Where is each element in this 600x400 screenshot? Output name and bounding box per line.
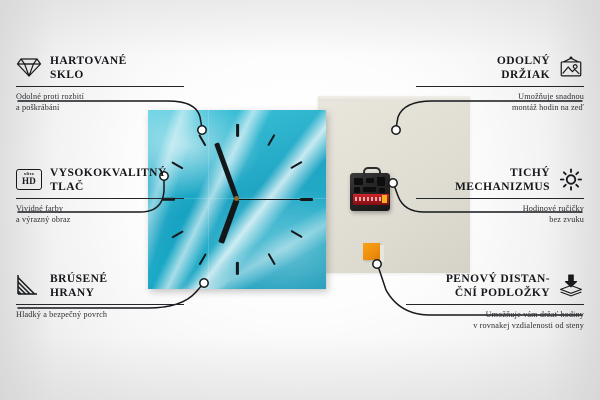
feature-divider <box>416 198 584 199</box>
feature-description-line: Umožňuje snadnou <box>416 91 584 102</box>
mechanism-detail <box>354 178 363 185</box>
clock-hour-marker <box>291 161 303 170</box>
feature-description-line: bez zvuku <box>416 214 584 225</box>
feature-title: VYSOKOKVALITNÝ TLAČ <box>50 166 167 194</box>
clock-center-cap <box>234 196 239 201</box>
feature-title-line: DRŽIAK <box>497 69 550 83</box>
feature-header: BRÚSENÉ HRANY <box>16 272 184 300</box>
mechanism-detail <box>363 187 376 192</box>
clock-seam-vertical <box>208 110 209 289</box>
feature-description: Odolné proti rozbití a poškrábání <box>16 91 184 113</box>
feature-title-line: HARTOVANÉ <box>50 55 127 69</box>
feature-description: Hladký a bezpečný povrch <box>16 309 184 320</box>
clock-hour-marker <box>291 230 303 239</box>
feature-high-quality-print: ultra HD VYSOKOKVALITNÝ TLAČ Vividné far… <box>16 166 184 225</box>
feature-description-line: Umožňuje vám držať hodiny <box>406 309 584 320</box>
orange-foam-spacer-pad <box>363 243 380 260</box>
feature-divider <box>416 86 584 87</box>
ultra-hd-large-text: HD <box>22 177 36 186</box>
clock-hour-marker <box>267 133 276 145</box>
feature-title-line: SKLO <box>50 69 127 83</box>
feature-header: ultra HD VYSOKOKVALITNÝ TLAČ <box>16 166 184 194</box>
feature-header: HARTOVANÉ SKLO <box>16 54 184 82</box>
feature-description-line: v rovnakej vzdialenosti od steny <box>406 320 584 331</box>
feature-silent-mechanism: TICHÝ MECHANIZMUS Hodinové ručičky bez z… <box>416 166 584 225</box>
feature-description-line: Hladký a bezpečný povrch <box>16 309 184 320</box>
feature-title-line: ČNÍ PODLOŽKY <box>446 287 550 301</box>
feature-description-line: a výrazný obraz <box>16 214 184 225</box>
feature-title: ODOLNÝ DRŽIAK <box>497 54 550 82</box>
feature-title-line: BRÚSENÉ <box>50 273 107 287</box>
mechanism-detail <box>379 188 385 193</box>
feature-description-line: Odolné proti rozbití <box>16 91 184 102</box>
feature-title-line: HRANY <box>50 287 107 301</box>
clock-hour-hand <box>219 199 240 244</box>
clock-hour-marker <box>236 124 239 137</box>
feature-title: BRÚSENÉ HRANY <box>50 272 107 300</box>
mechanism-detail <box>377 177 385 186</box>
diamond-icon <box>16 54 42 80</box>
clock-hour-marker <box>198 133 207 145</box>
foam-spacer-side-face <box>380 245 384 262</box>
feature-durable-hanger: ODOLNÝ DRŽIAK Umožňuje snadnou montáž ho… <box>416 54 584 113</box>
feature-header: PENOVÝ DISTAN- ČNÍ PODLOŽKY <box>406 272 584 300</box>
feature-title: TICHÝ MECHANIZMUS <box>455 166 550 194</box>
feature-title-line: VYSOKOKVALITNÝ <box>50 167 167 181</box>
feature-title-line: MECHANIZMUS <box>455 181 550 195</box>
feature-divider <box>16 304 184 305</box>
clock-hour-marker <box>236 262 239 275</box>
diagonal-stripes-icon <box>16 272 42 298</box>
ultra-hd-badge-icon: ultra HD <box>16 166 42 192</box>
feature-description: Hodinové ručičky bez zvuku <box>416 203 584 225</box>
clock-hour-marker <box>267 253 276 265</box>
feature-foam-spacers: PENOVÝ DISTAN- ČNÍ PODLOŽKY Umožňuje vám… <box>406 272 584 331</box>
feature-description-line: Hodinové ručičky <box>416 203 584 214</box>
ultra-hd-badge: ultra HD <box>16 169 42 190</box>
clock-hour-marker <box>171 230 183 239</box>
feature-divider <box>16 86 184 87</box>
feature-description: Umožňuje vám držať hodiny v rovnakej vzd… <box>406 309 584 331</box>
product-infographic: HARTOVANÉ SKLO Odolné proti rozbití a po… <box>0 0 600 400</box>
feature-description-line: Vividné farby <box>16 203 184 214</box>
battery-positive-tip <box>382 195 387 203</box>
feature-divider <box>16 198 184 199</box>
feature-divider <box>406 304 584 305</box>
clock-hour-marker <box>198 253 207 265</box>
feature-tempered-glass: HARTOVANÉ SKLO Odolné proti rozbití a po… <box>16 54 184 113</box>
feature-title-line: ODOLNÝ <box>497 55 550 69</box>
feature-title: HARTOVANÉ SKLO <box>50 54 127 82</box>
mechanism-detail <box>354 187 360 193</box>
mechanism-detail <box>366 178 374 183</box>
feature-description-line: montáž hodin na zeď <box>416 102 584 113</box>
feature-title-line: TLAČ <box>50 181 167 195</box>
picture-frame-hanger-icon <box>558 54 584 80</box>
feature-description: Umožňuje snadnou montáž hodin na zeď <box>416 91 584 113</box>
arrow-into-layers-icon <box>558 272 584 298</box>
feature-title-line: TICHÝ <box>455 167 550 181</box>
clock-second-hand <box>237 199 303 201</box>
feature-header: ODOLNÝ DRŽIAK <box>416 54 584 82</box>
battery-label-stripes <box>355 197 381 201</box>
feature-description-line: a poškrábání <box>16 102 184 113</box>
feature-header: TICHÝ MECHANIZMUS <box>416 166 584 194</box>
feature-title-line: PENOVÝ DISTAN- <box>446 273 550 287</box>
mechanism-hanger-hook <box>363 167 381 177</box>
clock-mechanism-box <box>350 173 390 211</box>
gear-icon <box>558 166 584 192</box>
feature-title: PENOVÝ DISTAN- ČNÍ PODLOŽKY <box>446 272 550 300</box>
clock-minute-hand <box>214 142 239 200</box>
feature-polished-edges: BRÚSENÉ HRANY Hladký a bezpečný povrch <box>16 272 184 320</box>
feature-description: Vividné farby a výrazný obraz <box>16 203 184 225</box>
